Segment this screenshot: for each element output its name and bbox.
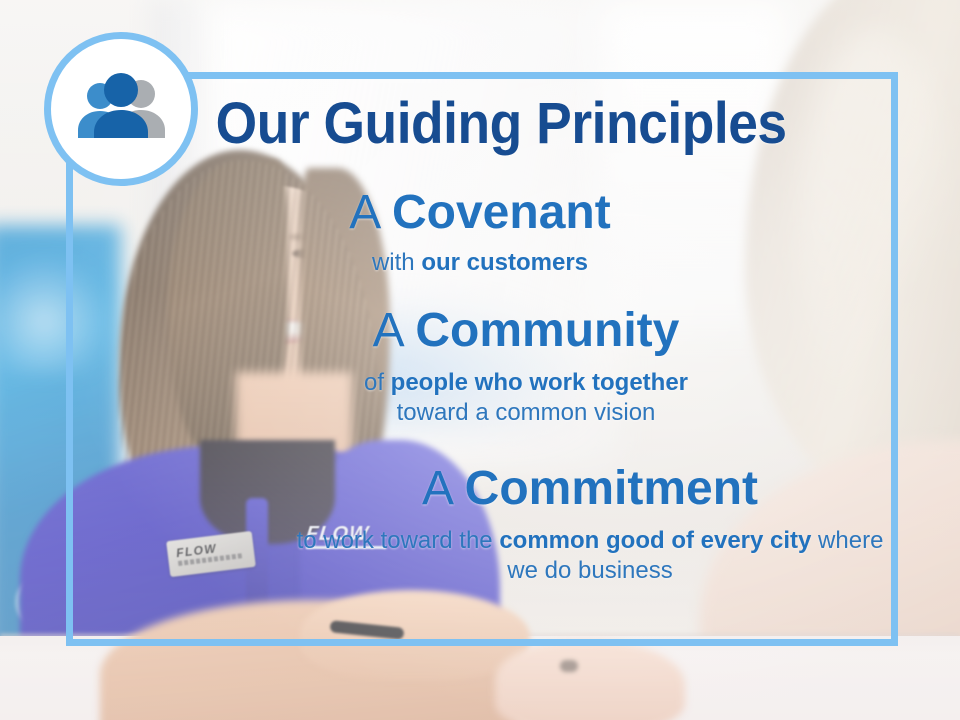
- principle-commitment-detail-emphasis: common good of every city: [499, 527, 811, 554]
- principle-community-keyword: Community: [415, 304, 679, 357]
- principle-covenant-detail-prefix: with: [372, 249, 421, 276]
- principle-covenant-article: A: [349, 186, 392, 239]
- principle-community-heading: A Community: [46, 304, 960, 358]
- principle-community-detail-emphasis: people who work together: [391, 369, 688, 396]
- principle-commitment-detail-line2: we do business: [507, 557, 672, 584]
- employee-clasped-hands: [300, 590, 530, 680]
- principle-community-detail: of people who work togethertoward a comm…: [46, 368, 960, 428]
- principle-commitment-detail-suffix: where: [811, 527, 883, 554]
- principle-community-detail-prefix: of: [364, 369, 391, 396]
- customer-ring: [560, 660, 578, 672]
- principle-covenant: A Covenant with our customers: [0, 186, 960, 278]
- principle-community-article: A: [373, 304, 416, 357]
- principle-commitment-detail: to work toward the common good of every …: [110, 526, 960, 586]
- principle-covenant-keyword: Covenant: [392, 186, 611, 239]
- principle-commitment-detail-prefix: to work toward the: [297, 527, 500, 554]
- principle-community: A Community of people who work togethert…: [0, 304, 960, 428]
- page-title: Our Guiding Principles: [38, 92, 921, 156]
- principle-covenant-detail-emphasis: our customers: [421, 249, 588, 276]
- principle-community-detail-line2: toward a common vision: [397, 399, 656, 426]
- principle-commitment-heading: A Commitment: [110, 462, 960, 516]
- principle-covenant-heading: A Covenant: [0, 186, 960, 240]
- promotional-graphic: FLOW FLOW Our: [0, 0, 960, 720]
- principle-commitment-article: A: [422, 462, 465, 515]
- customer-hand: [495, 640, 685, 720]
- principle-commitment-keyword: Commitment: [465, 462, 758, 515]
- principle-commitment: A Commitment to work toward the common g…: [0, 462, 960, 586]
- principle-covenant-detail: with our customers: [0, 248, 960, 278]
